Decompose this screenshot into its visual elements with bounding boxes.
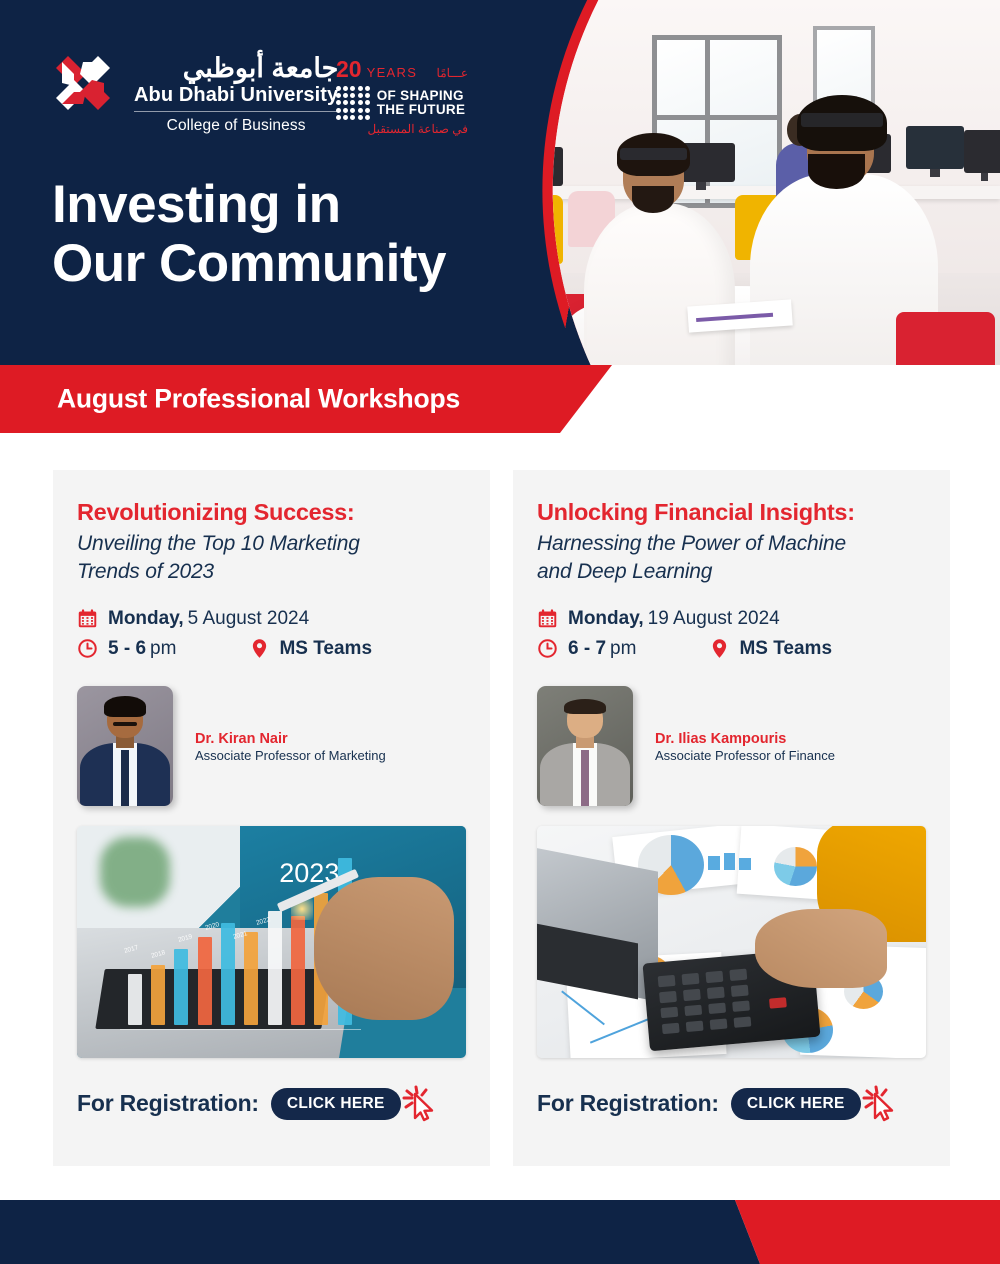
workshop-time-period: pm <box>150 638 176 660</box>
workshop-time-value: 5 - 6 <box>108 638 146 660</box>
anniversary-logo: 20 YEARS عـــامًا OF SHAPING THE FUTURE … <box>336 58 468 136</box>
workshop-card-1: Revolutionizing Success: Unveiling the T… <box>53 470 490 1166</box>
speaker-role: Associate Professor of Finance <box>655 748 835 765</box>
click-here-button[interactable]: CLICK HERE <box>731 1088 861 1120</box>
workshop-subtitle-line-1: Harnessing the Power of Machine <box>537 530 926 558</box>
workshop-subtitle-line-2: and Deep Learning <box>537 558 926 586</box>
subtitle-banner: August Professional Workshops <box>0 365 1000 433</box>
workshop-date-row: Monday, 19 August 2024 <box>537 608 926 630</box>
university-name-arabic: جامعة أبوظبي <box>134 54 338 82</box>
anniversary-line2: THE FUTURE <box>377 103 466 117</box>
anniversary-years-label: YEARS <box>367 66 418 79</box>
workshop-title: Revolutionizing Success: <box>77 498 466 526</box>
registration-label: For Registration: <box>537 1090 719 1117</box>
adu-logo: جامعة أبوظبي Abu Dhabi University Colleg… <box>52 52 338 135</box>
workshop-time-period: pm <box>610 638 636 660</box>
workshop-speaker: Dr. Kiran Nair Associate Professor of Ma… <box>77 686 466 806</box>
workshop-subtitle: Unveiling the Top 10 Marketing Trends of… <box>77 530 466 585</box>
workshop-card-2: Unlocking Financial Insights: Harnessing… <box>513 470 950 1166</box>
growth-chart-photo-illustration: 2017 2018 2019 2020 2021 2022 2023 <box>77 826 466 1058</box>
workshop-date-row: Monday, 5 August 2024 <box>77 608 466 630</box>
headline-line-1: Investing in <box>52 175 446 234</box>
speaker-role: Associate Professor of Marketing <box>195 748 386 765</box>
location-pin-icon <box>710 638 729 659</box>
footer-bar <box>0 1200 1000 1264</box>
workshop-date-value: 5 August 2024 <box>188 608 310 630</box>
workshop-location: MS Teams <box>739 638 832 660</box>
clock-icon <box>537 638 558 659</box>
workshop-time-location-row: 6 - 7 pm MS Teams <box>537 638 926 660</box>
anniversary-arabic-tagline: في صناعة المستقبل <box>336 122 468 136</box>
page-title: Investing in Our Community <box>52 175 446 294</box>
workshop-date-day: Monday, <box>568 608 644 630</box>
click-here-button[interactable]: CLICK HERE <box>271 1088 401 1120</box>
logo-divider <box>134 111 338 112</box>
workshop-subtitle: Harnessing the Power of Machine and Deep… <box>537 530 926 585</box>
speaker-photo <box>77 686 173 806</box>
adu-pinwheel-icon <box>52 52 114 114</box>
speaker-photo <box>537 686 633 806</box>
mouse-cursor-icon <box>859 1084 899 1124</box>
workshop-subtitle-line-1: Unveiling the Top 10 Marketing <box>77 530 466 558</box>
workshop-time-value: 6 - 7 <box>568 638 606 660</box>
anniversary-line1: OF SHAPING <box>377 89 466 103</box>
workshop-meta: Monday, 5 August 2024 5 - 6 pm MS Teams <box>77 608 466 660</box>
workshop-image <box>537 826 926 1058</box>
clock-icon <box>77 638 98 659</box>
headline-line-2: Our Community <box>52 234 446 293</box>
university-name-english: Abu Dhabi University <box>134 83 338 107</box>
calendar-icon <box>77 608 98 629</box>
anniversary-years-arabic: عـــامًا <box>437 67 468 79</box>
workshop-location: MS Teams <box>279 638 372 660</box>
anniversary-number: 20 <box>336 58 362 81</box>
registration-label: For Registration: <box>77 1090 259 1117</box>
speaker-name: Dr. Kiran Nair <box>195 730 386 748</box>
workshop-date-value: 19 August 2024 <box>648 608 780 630</box>
workshop-date-day: Monday, <box>108 608 184 630</box>
student-left <box>584 143 735 365</box>
anniversary-dot-grid-icon <box>336 86 370 120</box>
workshop-time-location-row: 5 - 6 pm MS Teams <box>77 638 466 660</box>
header-banner: جامعة أبوظبي Abu Dhabi University Colleg… <box>0 0 1000 365</box>
header-left-panel: جامعة أبوظبي Abu Dhabi University Colleg… <box>0 0 560 365</box>
workshop-speaker: Dr. Ilias Kampouris Associate Professor … <box>537 686 926 806</box>
speaker-name: Dr. Ilias Kampouris <box>655 730 835 748</box>
banner-title: August Professional Workshops <box>57 384 460 415</box>
workshop-meta: Monday, 19 August 2024 6 - 7 pm MS Teams <box>537 608 926 660</box>
finance-desk-photo-illustration <box>537 826 926 1058</box>
college-name: College of Business <box>134 117 338 135</box>
workshop-title: Unlocking Financial Insights: <box>537 498 926 526</box>
registration-row: For Registration: CLICK HERE <box>77 1084 466 1124</box>
workshop-image: 2017 2018 2019 2020 2021 2022 2023 <box>77 826 466 1058</box>
mouse-cursor-icon <box>399 1084 439 1124</box>
registration-row: For Registration: CLICK HERE <box>537 1084 926 1124</box>
workshop-subtitle-line-2: Trends of 2023 <box>77 558 466 586</box>
location-pin-icon <box>250 638 269 659</box>
calendar-icon <box>537 608 558 629</box>
